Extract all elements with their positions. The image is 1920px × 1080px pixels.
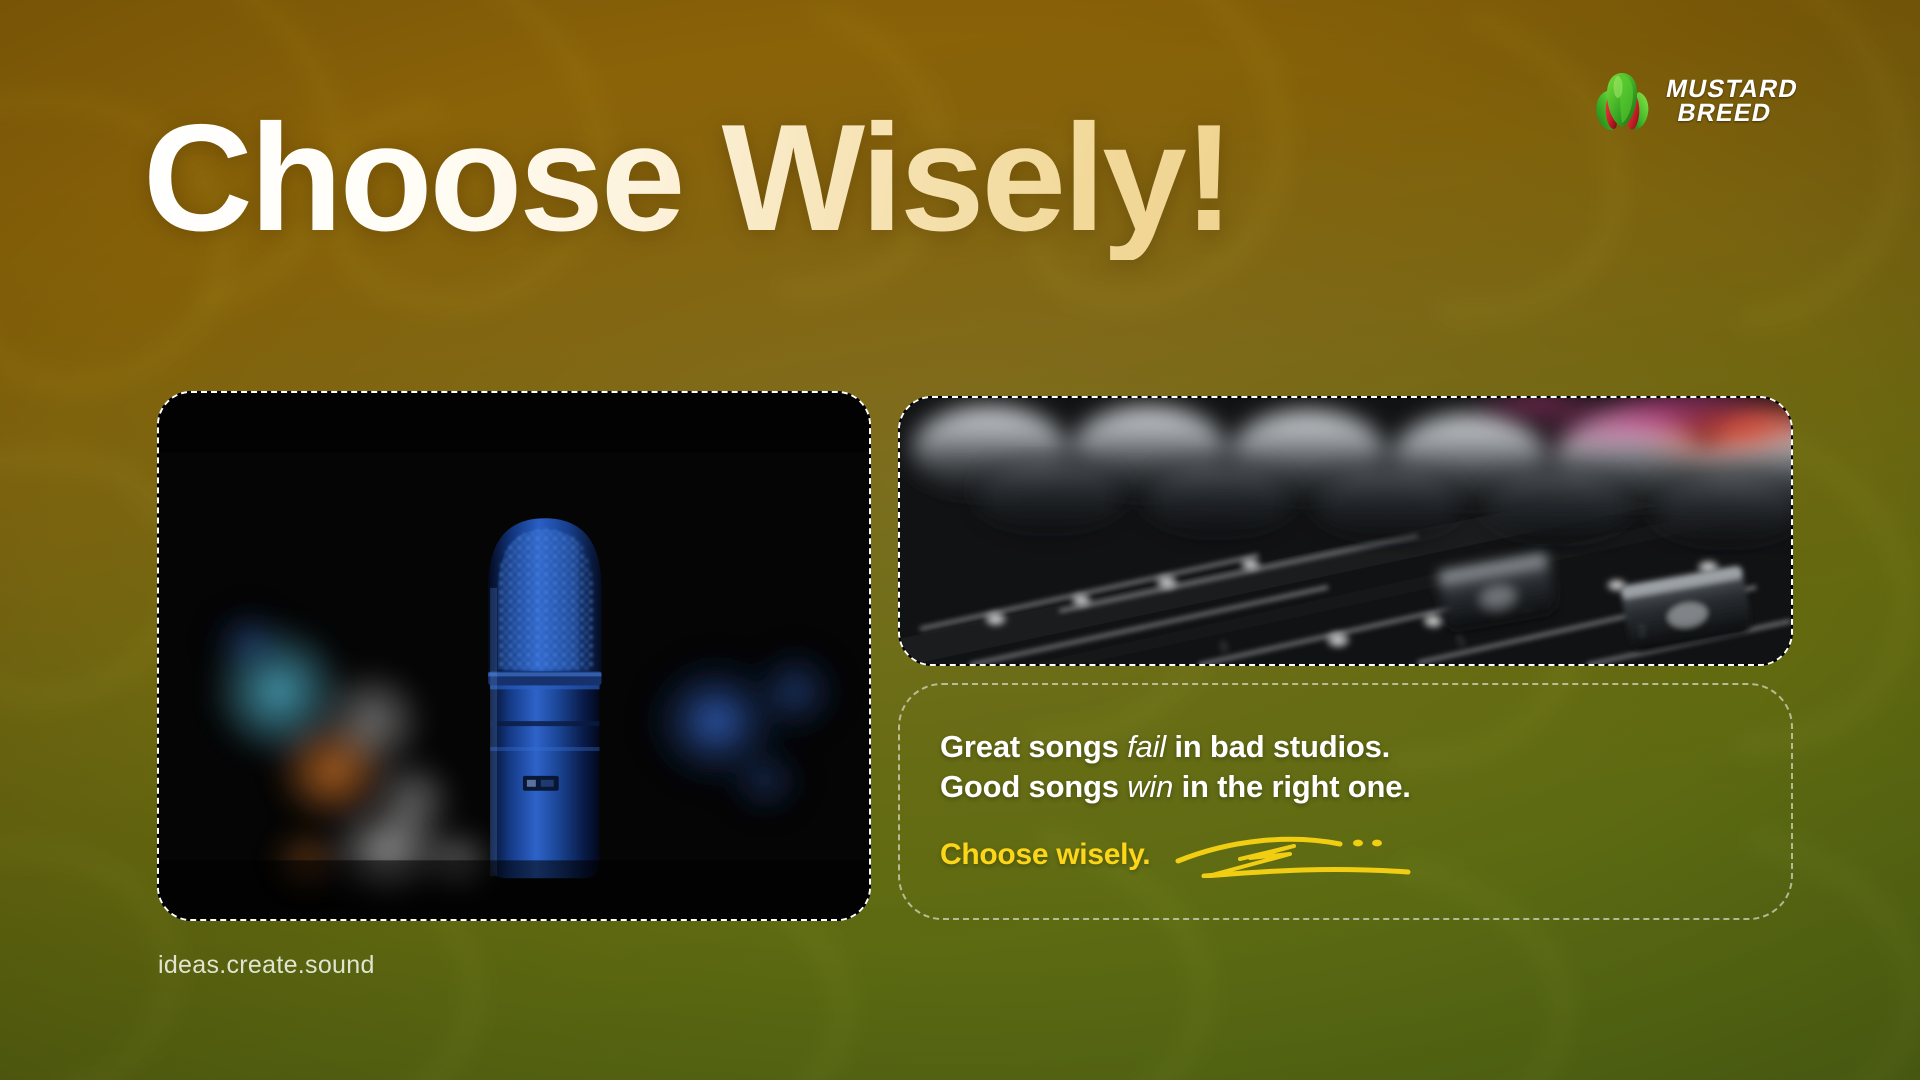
quote-line1-post: in bad studios. xyxy=(1166,729,1390,764)
poster-canvas: MUSTARD BREED Choose Wisely! xyxy=(0,0,1920,1080)
quote-text: Great songs fail in bad studios. Good so… xyxy=(921,727,1757,808)
brand-wordmark-line1: MUSTARD xyxy=(1664,78,1800,102)
quote-line2-post: in the right one. xyxy=(1173,769,1411,804)
microphone-image-card[interactable] xyxy=(157,391,871,921)
brand-logo[interactable]: MUSTARD BREED xyxy=(1590,58,1830,144)
brand-wordmark: MUSTARD BREED xyxy=(1659,78,1800,125)
quote-line2-pre: Good songs xyxy=(940,769,1127,804)
audio-mixer-faders-photo: 8 5 2 xyxy=(900,398,1791,666)
quote-line-1: Great songs fail in bad studios. xyxy=(940,727,1757,767)
tagline-text: Choose wisely. xyxy=(940,838,1150,872)
quote-panel: Great songs fail in bad studios. Good so… xyxy=(898,683,1793,920)
tagline-row: Choose wisely. xyxy=(921,832,1757,878)
page-title: Choose Wisely! xyxy=(143,96,1231,260)
mustard-seedling-icon xyxy=(1590,67,1654,135)
brand-wordmark-line2: BREED xyxy=(1659,101,1795,125)
quote-line2-emphasis: win xyxy=(1127,769,1173,804)
quote-line1-pre: Great songs xyxy=(940,729,1127,764)
quote-line1-emphasis: fail xyxy=(1127,729,1166,764)
mixer-image-card[interactable]: 8 5 2 xyxy=(898,396,1793,666)
condenser-microphone-photo xyxy=(159,393,869,920)
quote-line-2: Good songs win in the right one. xyxy=(940,767,1757,807)
footer-caption: ideas.create.sound xyxy=(158,951,375,980)
swoosh-underline-icon xyxy=(1172,832,1412,878)
